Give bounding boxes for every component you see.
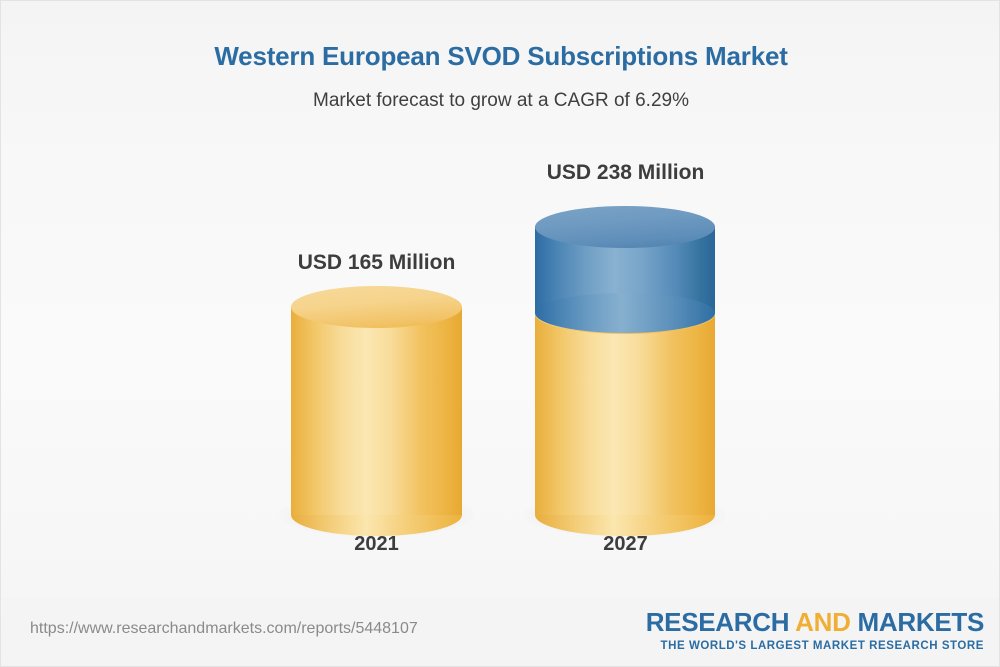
- logo-wordmark: RESEARCH AND MARKETS: [646, 607, 984, 638]
- bar-2021-value-label: USD 165 Million: [286, 251, 467, 275]
- bar-2027-value-label: USD 238 Million: [531, 161, 720, 185]
- logo-word-and: AND: [795, 607, 850, 637]
- report-url[interactable]: https://www.researchandmarkets.com/repor…: [30, 620, 418, 638]
- logo-word-markets: MARKETS: [851, 607, 984, 637]
- bar-2021-body-yellow: [291, 307, 462, 515]
- bar-2027-category-label: 2027: [531, 533, 720, 556]
- logo-tagline: THE WORLD'S LARGEST MARKET RESEARCH STOR…: [646, 640, 984, 652]
- logo-word-research: RESEARCH: [646, 607, 795, 637]
- bar-2027-blue-bottom-ellipse: [535, 293, 715, 333]
- bar-2027[interactable]: [535, 206, 715, 516]
- footer: https://www.researchandmarkets.com/repor…: [2, 598, 1000, 667]
- research-and-markets-logo[interactable]: RESEARCH AND MARKETS THE WORLD'S LARGEST…: [646, 607, 984, 652]
- chart-plot-area: USD 165 Million 2021 USD 238 Million 202…: [1, 1, 1000, 601]
- chart-canvas: Western European SVOD Subscriptions Mark…: [0, 0, 1000, 667]
- bar-2027-body-yellow: [535, 314, 715, 515]
- bar-2021[interactable]: [291, 286, 462, 516]
- bar-2021-top-ellipse: [291, 286, 462, 328]
- bar-2027-top-ellipse: [535, 206, 715, 248]
- bar-2021-category-label: 2021: [286, 533, 467, 556]
